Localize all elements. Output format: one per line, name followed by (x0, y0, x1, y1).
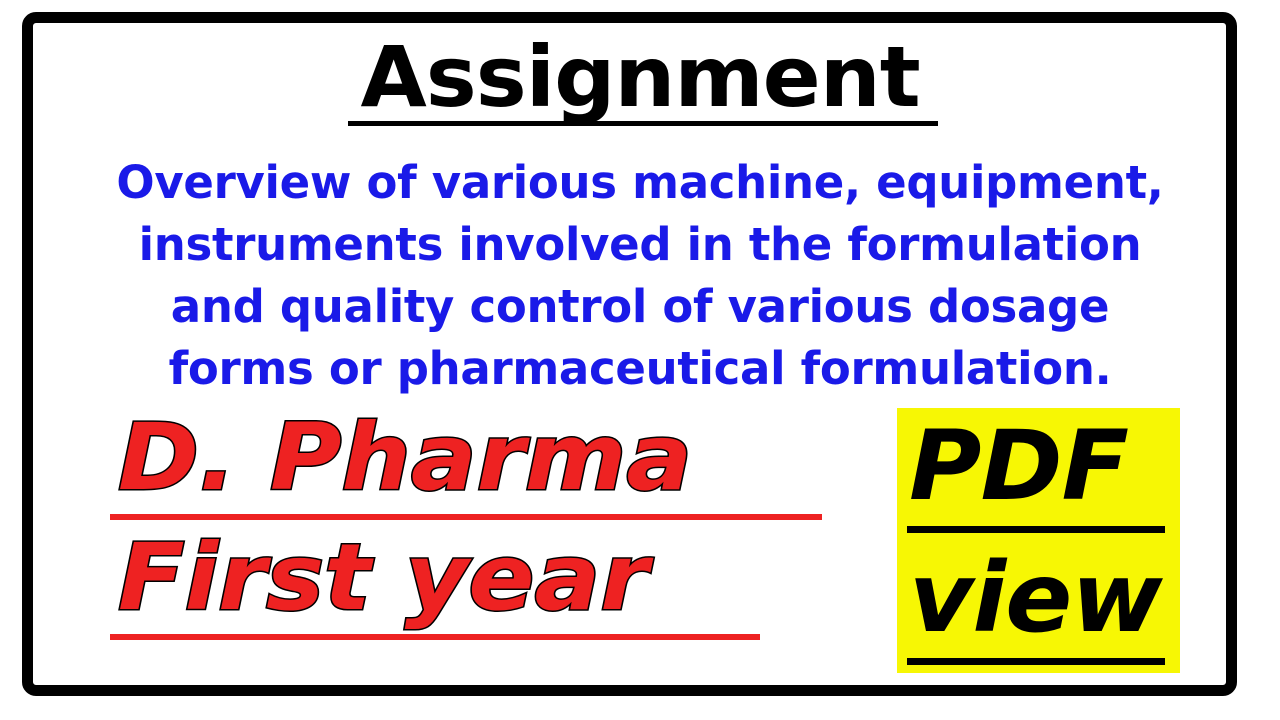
course-info-block: D. Pharma First year (110, 408, 822, 648)
pdf-label-row: PDF (897, 414, 1180, 538)
pdf-view-badge[interactable]: PDF view (897, 408, 1180, 673)
course-year-row: First year (110, 528, 760, 648)
description-line-4: forms or pharmaceutical formulation. (40, 338, 1240, 400)
course-name-row: D. Pharma (110, 408, 822, 528)
course-name: D. Pharma (118, 408, 692, 508)
pdf-label: PDF (909, 414, 1128, 518)
description-line-2: instruments involved in the formulation (40, 214, 1240, 276)
page-title-underline (348, 121, 938, 126)
view-label-row: view (897, 546, 1180, 670)
view-label: view (909, 546, 1162, 650)
description-line-3: and quality control of various dosage (40, 276, 1240, 338)
page-title-container: Assignment (0, 36, 1280, 118)
page-title: Assignment (360, 36, 919, 118)
course-year: First year (118, 528, 648, 628)
description-line-1: Overview of various machine, equipment, (40, 152, 1240, 214)
view-label-underline (907, 658, 1165, 665)
slide-canvas: Assignment Overview of various machine, … (0, 0, 1280, 720)
assignment-description: Overview of various machine, equipment, … (40, 152, 1240, 400)
course-year-underline (110, 634, 760, 640)
pdf-label-underline (907, 526, 1165, 533)
course-name-underline (110, 514, 822, 520)
